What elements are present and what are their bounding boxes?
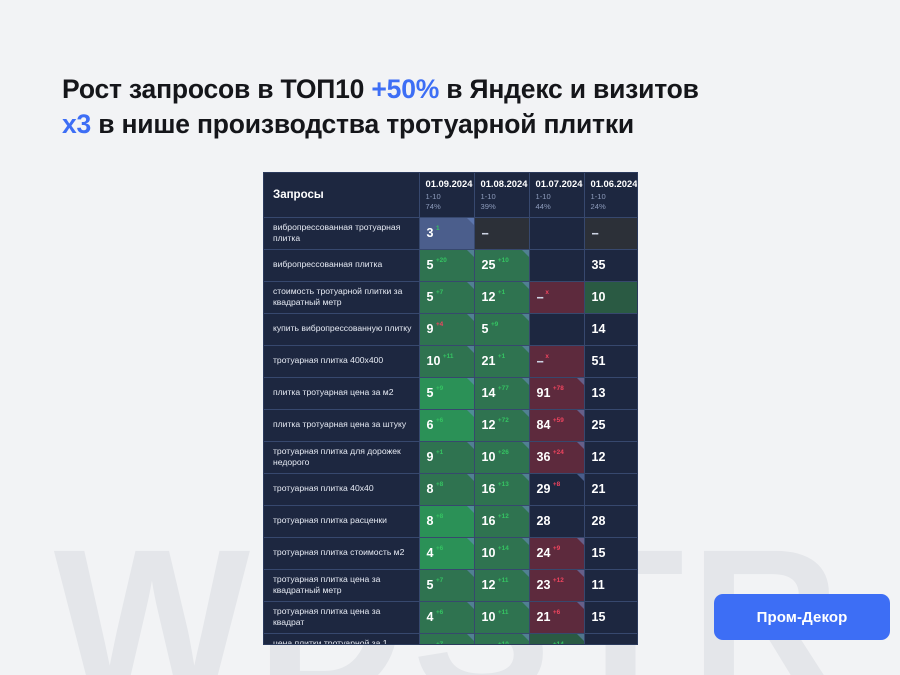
rank-delta: x bbox=[545, 353, 549, 360]
rank-value: 9 bbox=[427, 450, 434, 464]
rank-value: 13 bbox=[592, 386, 606, 400]
rank-value: 8 bbox=[427, 514, 434, 528]
rank-value: 5 bbox=[482, 322, 489, 336]
table-row: вибропрессованная тротуарная плитка31---… bbox=[264, 217, 638, 249]
title-part-2: в Яндекс и визитов bbox=[439, 74, 699, 104]
rank-cell: 21+1 bbox=[474, 345, 529, 377]
rank-delta: +77 bbox=[498, 385, 509, 392]
rank-cell: 5+7 bbox=[419, 281, 474, 313]
column-date-label: 01.07.2024 bbox=[536, 179, 578, 190]
rank-cell: 12+1 bbox=[474, 281, 529, 313]
rank-value: 12 bbox=[482, 642, 496, 645]
rank-cell: -- bbox=[584, 217, 638, 249]
rank-cell: 25 bbox=[584, 409, 638, 441]
rank-value: 10 bbox=[482, 546, 496, 560]
rank-cell: 16+12 bbox=[474, 505, 529, 537]
rank-delta: +20 bbox=[436, 257, 447, 264]
rank-cell: 21+6 bbox=[529, 601, 584, 633]
rank-delta: +12 bbox=[553, 577, 564, 584]
title-accent-percent: +50% bbox=[371, 74, 439, 104]
rank-value: 23 bbox=[537, 578, 551, 592]
rank-cell: 9+1 bbox=[419, 441, 474, 473]
rank-cell: 10+11 bbox=[419, 345, 474, 377]
rank-value: 14 bbox=[592, 322, 606, 336]
rank-cell: 28 bbox=[584, 505, 638, 537]
rank-value: 11 bbox=[592, 578, 605, 592]
rank-value: 29 bbox=[537, 482, 551, 496]
rank-cell: 15 bbox=[584, 601, 638, 633]
rank-value: 51 bbox=[592, 354, 606, 368]
query-label: тротуарная плитка цена за квадрат bbox=[264, 601, 419, 633]
rank-cell bbox=[529, 249, 584, 281]
rank-delta: +10 bbox=[498, 641, 509, 645]
rank-delta: +7 bbox=[436, 577, 443, 584]
table-row: тротуарная плитка 400x40010+1121+1--x51 bbox=[264, 345, 638, 377]
rank-cell: 13 bbox=[584, 377, 638, 409]
column-date-label: 01.08.2024 bbox=[481, 179, 523, 190]
rank-cell: 5+7 bbox=[419, 633, 474, 645]
rank-cell: 15 bbox=[584, 537, 638, 569]
rank-value: 4 bbox=[427, 546, 434, 560]
table-row: стоимость тротуарной плитки за квадратны… bbox=[264, 281, 638, 313]
table-body: вибропрессованная тротуарная плитка31---… bbox=[264, 217, 638, 645]
rank-value: 25 bbox=[592, 418, 606, 432]
column-header-date: 01.06.20241-10 24% bbox=[584, 173, 638, 217]
rank-cell: 10+11 bbox=[474, 601, 529, 633]
rank-value: 14 bbox=[482, 386, 496, 400]
table-head: Запросы 01.09.20241-10 74%01.08.20241-10… bbox=[264, 173, 638, 217]
rank-cell: 25+10 bbox=[474, 249, 529, 281]
rank-value: 21 bbox=[592, 482, 606, 496]
table-row: плитка тротуарная цена за штуку6+612+728… bbox=[264, 409, 638, 441]
rank-delta: +13 bbox=[498, 481, 509, 488]
rank-delta: +14 bbox=[553, 641, 564, 645]
rank-cell bbox=[529, 217, 584, 249]
rank-value: 12 bbox=[482, 290, 496, 304]
table-row: тротуарная плитка стоимость м24+610+1424… bbox=[264, 537, 638, 569]
column-range-percent: 1-10 39% bbox=[481, 192, 523, 212]
rank-delta: +26 bbox=[498, 449, 509, 456]
rank-cell bbox=[529, 313, 584, 345]
rank-value: -- bbox=[537, 354, 543, 368]
rank-cell: 84+59 bbox=[529, 409, 584, 441]
table-row: цена плитки тротуарной за 1 квадратный5+… bbox=[264, 633, 638, 645]
rank-cell: 36+24 bbox=[529, 441, 584, 473]
rank-value: 91 bbox=[537, 386, 551, 400]
rank-value: 25 bbox=[482, 258, 496, 272]
query-label: вибропрессованная тротуарная плитка bbox=[264, 217, 419, 249]
rank-value: 28 bbox=[537, 514, 551, 528]
rank-value: 16 bbox=[482, 482, 496, 496]
table-row: тротуарная плитка для дорожек недорого9+… bbox=[264, 441, 638, 473]
rank-value: 10 bbox=[592, 290, 606, 304]
column-header-date: 01.08.20241-10 39% bbox=[474, 173, 529, 217]
rank-value: 16 bbox=[482, 514, 496, 528]
rank-cell: 14+77 bbox=[474, 377, 529, 409]
rank-value: 24 bbox=[537, 546, 551, 560]
rank-cell: --x bbox=[529, 345, 584, 377]
rank-delta: +7 bbox=[436, 641, 443, 645]
rank-delta: +8 bbox=[553, 481, 560, 488]
query-label: тротуарная плитка цена за квадратный мет… bbox=[264, 569, 419, 601]
rank-value: 4 bbox=[427, 610, 434, 624]
rank-value: 10 bbox=[427, 354, 441, 368]
rank-value: 35 bbox=[592, 258, 606, 272]
rank-delta: 1 bbox=[436, 225, 440, 232]
rank-value: 9 bbox=[427, 322, 434, 336]
rank-value: 36 bbox=[592, 642, 606, 645]
table-row: тротуарная плитка 40x408+816+1329+821 bbox=[264, 473, 638, 505]
title-part-3: в нише производства тротуарной плитки bbox=[91, 109, 634, 139]
rank-cell: 29+8 bbox=[529, 473, 584, 505]
rank-value: 15 bbox=[592, 546, 606, 560]
title-part-1: Рост запросов в ТОП10 bbox=[62, 74, 371, 104]
table-row: купить вибропрессованную плитку9+45+914 bbox=[264, 313, 638, 345]
rank-cell: 8+8 bbox=[419, 505, 474, 537]
rank-value: 21 bbox=[537, 610, 551, 624]
rank-delta: +72 bbox=[498, 417, 509, 424]
rank-cell: 12+72 bbox=[474, 409, 529, 441]
column-date-label: 01.06.2024 bbox=[591, 179, 633, 190]
rank-delta: +8 bbox=[436, 481, 443, 488]
rank-value: 10 bbox=[482, 450, 496, 464]
rank-delta: +9 bbox=[491, 321, 498, 328]
table-header-row: Запросы 01.09.20241-10 74%01.08.20241-10… bbox=[264, 173, 638, 217]
column-range-percent: 1-10 74% bbox=[426, 192, 468, 212]
rank-value: -- bbox=[592, 226, 598, 240]
rank-delta: +1 bbox=[436, 449, 443, 456]
query-label: стоимость тротуарной плитки за квадратны… bbox=[264, 281, 419, 313]
rank-cell: 14 bbox=[584, 313, 638, 345]
slide-root: WDSTR Рост запросов в ТОП10 +50% в Яндек… bbox=[0, 0, 900, 675]
rank-value: 15 bbox=[592, 610, 606, 624]
page-title: Рост запросов в ТОП10 +50% в Яндекс и ви… bbox=[62, 72, 852, 142]
rank-value: 21 bbox=[482, 354, 496, 368]
table-row: плитка тротуарная цена за м25+914+7791+7… bbox=[264, 377, 638, 409]
rank-cell: 10+26 bbox=[474, 441, 529, 473]
rank-delta: +6 bbox=[436, 545, 443, 552]
rank-cell: 8+8 bbox=[419, 473, 474, 505]
rank-value: 22 bbox=[537, 642, 551, 645]
rank-cell: 35 bbox=[584, 249, 638, 281]
rank-cell: 91+78 bbox=[529, 377, 584, 409]
rank-delta: +11 bbox=[498, 577, 509, 584]
rank-value: 36 bbox=[537, 450, 551, 464]
rank-value: 3 bbox=[427, 226, 434, 240]
column-range-percent: 1-10 24% bbox=[591, 192, 633, 212]
rank-delta: +11 bbox=[498, 609, 509, 616]
rank-cell: --x bbox=[529, 281, 584, 313]
rank-value: 10 bbox=[482, 610, 496, 624]
query-label: цена плитки тротуарной за 1 квадратный bbox=[264, 633, 419, 645]
rank-cell: 23+12 bbox=[529, 569, 584, 601]
query-label: плитка тротуарная цена за м2 bbox=[264, 377, 419, 409]
rank-cell: 22+14 bbox=[529, 633, 584, 645]
rank-value: 28 bbox=[592, 514, 606, 528]
rank-cell: 10 bbox=[584, 281, 638, 313]
rank-delta: +4 bbox=[436, 321, 443, 328]
column-header-date: 01.07.20241-10 44% bbox=[529, 173, 584, 217]
query-label: тротуарная плитка 400x400 bbox=[264, 345, 419, 377]
rank-value: 5 bbox=[427, 578, 434, 592]
title-accent-multiplier: x3 bbox=[62, 109, 91, 139]
rank-value: 5 bbox=[427, 386, 434, 400]
rank-cell: 28 bbox=[529, 505, 584, 537]
table-row: вибропрессованная плитка5+2025+1035 bbox=[264, 249, 638, 281]
table-row: тротуарная плитка расценки8+816+122828 bbox=[264, 505, 638, 537]
rank-cell: -- bbox=[474, 217, 529, 249]
rank-cell: 5+7 bbox=[419, 569, 474, 601]
rank-delta: +8 bbox=[436, 513, 443, 520]
rank-delta: +1 bbox=[498, 353, 505, 360]
rank-value: 84 bbox=[537, 418, 551, 432]
rank-value: 5 bbox=[427, 642, 434, 645]
rank-delta: +9 bbox=[436, 385, 443, 392]
query-label: тротуарная плитка для дорожек недорого bbox=[264, 441, 419, 473]
rank-value: 12 bbox=[592, 450, 606, 464]
rank-value: 8 bbox=[427, 482, 434, 496]
rank-cell: 11 bbox=[584, 569, 638, 601]
rank-delta: +7 bbox=[436, 289, 443, 296]
query-label: купить вибропрессованную плитку bbox=[264, 313, 419, 345]
rank-value: -- bbox=[537, 290, 543, 304]
cta-button-prom-dekor[interactable]: Пром-Декор bbox=[714, 594, 890, 640]
rankings-table: Запросы 01.09.20241-10 74%01.08.20241-10… bbox=[264, 173, 638, 645]
table-row: тротуарная плитка цена за квадратный мет… bbox=[264, 569, 638, 601]
rank-cell: 31 bbox=[419, 217, 474, 249]
table-row: тротуарная плитка цена за квадрат4+610+1… bbox=[264, 601, 638, 633]
rank-delta: +24 bbox=[553, 449, 564, 456]
rank-delta: +9 bbox=[553, 545, 560, 552]
rank-cell: 36 bbox=[584, 633, 638, 645]
column-header-date: 01.09.20241-10 74% bbox=[419, 173, 474, 217]
rank-cell: 6+6 bbox=[419, 409, 474, 441]
rank-cell: 4+6 bbox=[419, 537, 474, 569]
query-label: тротуарная плитка расценки bbox=[264, 505, 419, 537]
rank-cell: 12+10 bbox=[474, 633, 529, 645]
rank-delta: +1 bbox=[498, 289, 505, 296]
rank-cell: 10+14 bbox=[474, 537, 529, 569]
rank-value: -- bbox=[482, 226, 488, 240]
rank-delta: +78 bbox=[553, 385, 564, 392]
rank-value: 5 bbox=[427, 290, 434, 304]
query-label: тротуарная плитка 40x40 bbox=[264, 473, 419, 505]
rank-delta: x bbox=[545, 289, 549, 296]
column-header-queries: Запросы bbox=[264, 173, 419, 217]
rank-delta: +6 bbox=[436, 609, 443, 616]
rank-cell: 24+9 bbox=[529, 537, 584, 569]
rank-value: 5 bbox=[427, 258, 434, 272]
rank-cell: 21 bbox=[584, 473, 638, 505]
rank-delta: +12 bbox=[498, 513, 509, 520]
rank-cell: 16+13 bbox=[474, 473, 529, 505]
column-date-label: 01.09.2024 bbox=[426, 179, 468, 190]
rank-cell: 5+20 bbox=[419, 249, 474, 281]
rank-cell: 9+4 bbox=[419, 313, 474, 345]
rank-cell: 5+9 bbox=[474, 313, 529, 345]
rank-delta: +59 bbox=[553, 417, 564, 424]
rank-delta: +6 bbox=[436, 417, 443, 424]
rank-value: 12 bbox=[482, 578, 496, 592]
query-label: вибропрессованная плитка bbox=[264, 249, 419, 281]
query-label: тротуарная плитка стоимость м2 bbox=[264, 537, 419, 569]
column-range-percent: 1-10 44% bbox=[536, 192, 578, 212]
rank-cell: 4+6 bbox=[419, 601, 474, 633]
rank-cell: 5+9 bbox=[419, 377, 474, 409]
rank-value: 6 bbox=[427, 418, 434, 432]
rank-cell: 12 bbox=[584, 441, 638, 473]
rank-cell: 12+11 bbox=[474, 569, 529, 601]
rank-cell: 51 bbox=[584, 345, 638, 377]
rankings-table-card: Запросы 01.09.20241-10 74%01.08.20241-10… bbox=[263, 172, 638, 645]
rank-delta: +10 bbox=[498, 257, 509, 264]
rank-delta: +14 bbox=[498, 545, 509, 552]
rank-delta: +11 bbox=[443, 353, 454, 360]
rank-value: 12 bbox=[482, 418, 496, 432]
rank-delta: +6 bbox=[553, 609, 560, 616]
query-label: плитка тротуарная цена за штуку bbox=[264, 409, 419, 441]
